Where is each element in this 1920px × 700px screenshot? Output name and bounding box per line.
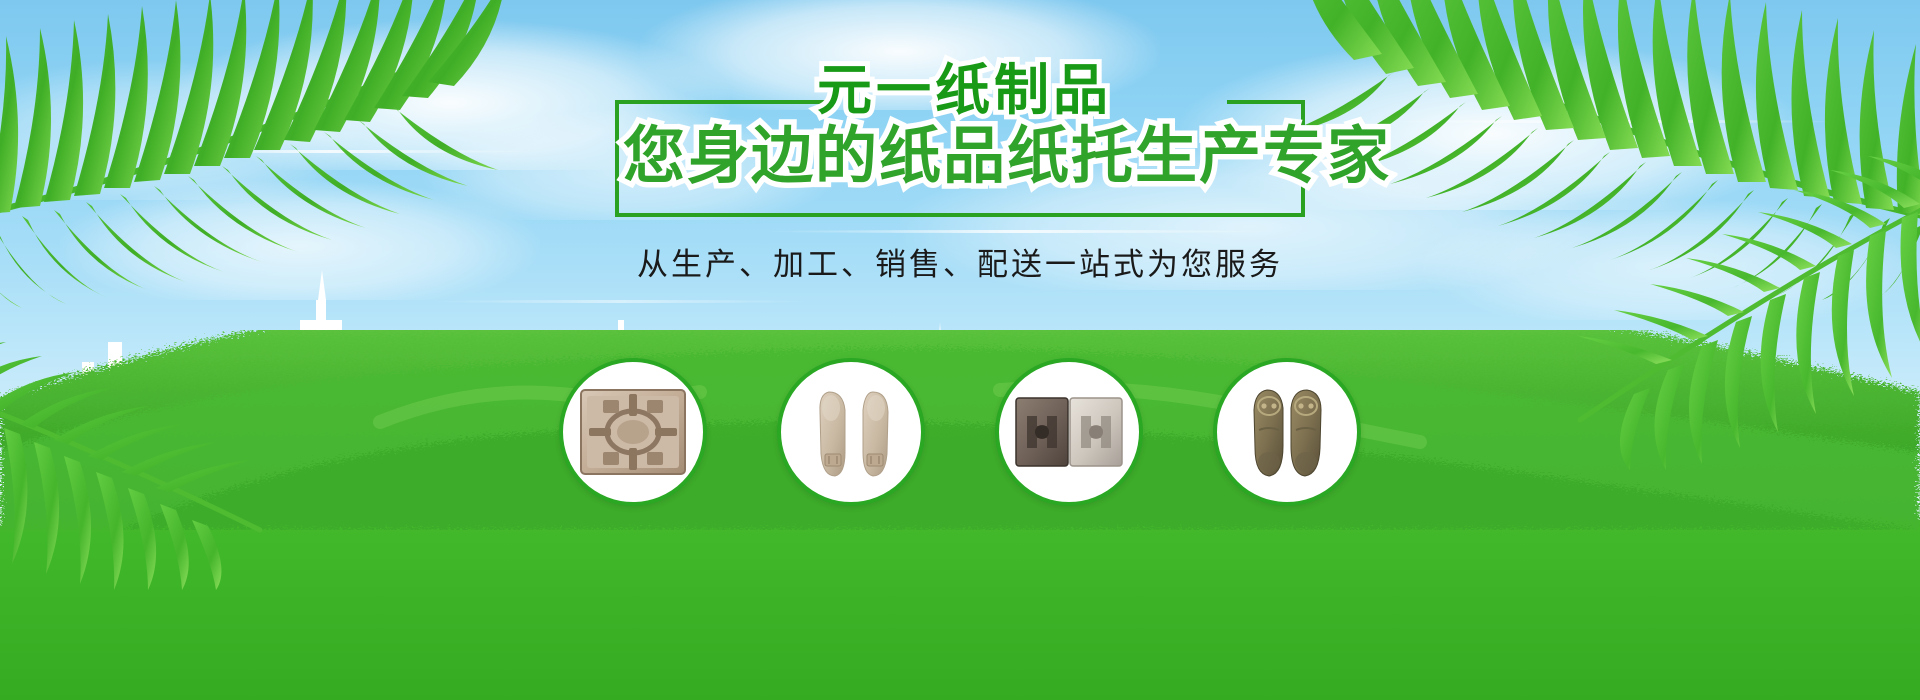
molded-pulp-tray-square-image (579, 386, 687, 478)
headline-block: 元一纸制品 您身边的纸品纸托生产专家 从生产、加工、销售、配送一站式为您服务 (0, 72, 1920, 284)
product-circle-2[interactable] (777, 358, 925, 506)
molded-pulp-shoe-inserts-image (797, 386, 905, 478)
promotional-banner: 元一纸制品 您身边的纸品纸托生产专家 从生产、加工、销售、配送一站式为您服务 (0, 0, 1920, 700)
frame-line-bottom (615, 213, 1305, 217)
frame-line-top-left (615, 100, 827, 104)
molded-pulp-shoe-forms-image (1233, 386, 1341, 478)
product-circle-row (0, 358, 1920, 518)
molded-pulp-tray-pair-image (1015, 386, 1123, 478)
product-circle-3[interactable] (995, 358, 1143, 506)
banner-subtitle: 从生产、加工、销售、配送一站式为您服务 (637, 239, 1283, 284)
frame-line-left (615, 100, 619, 217)
headline-line-1: 元一纸制品 (817, 56, 1112, 124)
headline-frame: 元一纸制品 您身边的纸品纸托生产专家 (615, 72, 1305, 217)
frame-line-top-right (1227, 100, 1305, 104)
product-circle-4[interactable] (1213, 358, 1361, 506)
headline-line-2: 您身边的纸品纸托生产专家 (623, 118, 1391, 196)
product-circle-1[interactable] (559, 358, 707, 506)
